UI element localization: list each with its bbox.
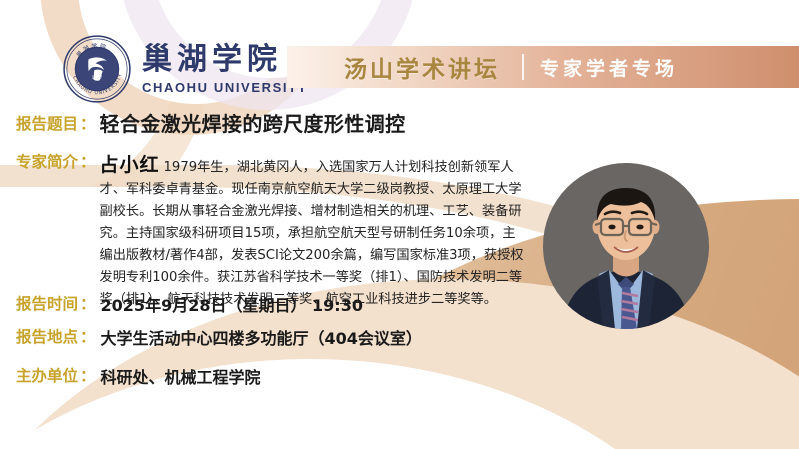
speaker-bio-row: 专家简介 ： 占小红1979年生，湖北黄冈人，入选国家万人计划科技创新领军人才、… [16, 150, 526, 311]
speaker-bio-text: 1979年生，湖北黄冈人，入选国家万人计划科技创新领军人才、军科委卓青基金。现任… [100, 160, 524, 307]
detail-label-time: 报告时间 [16, 292, 78, 314]
speaker-portrait-illustration [543, 163, 709, 329]
speaker-photo [543, 163, 709, 329]
talk-title-value: 轻合金激光焊接的跨尺度形性调控 [100, 108, 406, 137]
speaker-name: 占小红 [100, 154, 160, 176]
talk-title-row: 报告题目 ： 轻合金激光焊接的跨尺度形性调控 [16, 108, 406, 137]
detail-label-place: 报告地点 [16, 325, 78, 347]
poster-canvas: 1977 巢 湖 学 院 CHAOHU UNIVERSITY 巢湖学院 CHAO… [0, 0, 799, 449]
talk-title-label: 报告题目 [16, 112, 78, 134]
detail-value-place: 大学生活动中心四楼多功能厅（404会议室） [101, 325, 422, 349]
talk-title-colon: ： [80, 112, 96, 134]
detail-value-organizer: 科研处、机械工程学院 [101, 364, 261, 388]
speaker-bio-label: 专家简介 [16, 150, 78, 172]
detail-row-organizer: 主办单位 ： 科研处、机械工程学院 [16, 364, 261, 388]
detail-label-organizer: 主办单位 [16, 364, 78, 386]
detail-value-time: 2025年9月28日（星期日） 19:30 [101, 292, 363, 316]
detail-colon-time: ： [80, 292, 96, 314]
detail-colon-place: ： [80, 325, 96, 347]
detail-colon-organizer: ： [80, 364, 96, 386]
speaker-bio-colon: ： [80, 150, 96, 172]
detail-row-time: 报告时间 ： 2025年9月28日（星期日） 19:30 [16, 292, 363, 316]
speaker-bio-body: 占小红1979年生，湖北黄冈人，入选国家万人计划科技创新领军人才、军科委卓青基金… [100, 150, 526, 311]
detail-row-place: 报告地点 ： 大学生活动中心四楼多功能厅（404会议室） [16, 325, 422, 349]
